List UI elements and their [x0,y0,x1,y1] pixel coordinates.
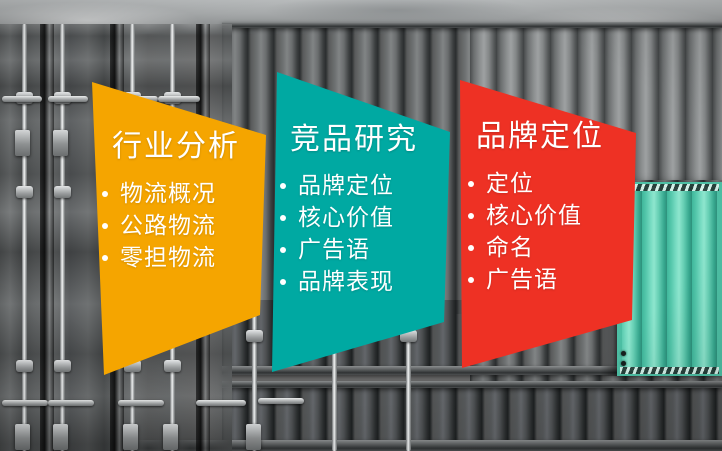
bullet-icon [280,215,286,221]
list-item-label: 公路物流 [120,213,216,239]
rod-handle-2 [48,96,88,102]
rod-cam-5 [16,186,33,198]
rod-handle-9 [258,398,304,404]
poster-canvas: 行业分析 物流概况 公路物流 零担物流 竞品研究 [0,0,722,451]
rod-cam-9 [16,360,33,372]
list-item-label: 广告语 [298,237,370,263]
rod-foot-7 [123,424,138,450]
list-item[interactable]: 命名 [466,232,582,264]
bullet-icon [280,247,286,253]
rod-foot-1 [15,130,30,156]
list-item[interactable]: 核心价值 [278,202,394,234]
rod-foot-2 [53,130,68,156]
rod-foot-8 [163,424,178,450]
list-item[interactable]: 广告语 [278,234,394,266]
rod-cam-6 [54,186,71,198]
bullet-icon [102,255,108,261]
panel-brand-list: 定位 核心价值 命名 广告语 [466,168,582,296]
list-item-label: 核心价值 [486,203,582,229]
rod-cam-10 [54,360,71,372]
rod-handle-6 [48,400,94,406]
list-item-label: 物流概况 [120,181,216,207]
bullet-icon [102,223,108,229]
panel-brand[interactable]: 品牌定位 定位 核心价值 命名 广告语 [452,52,652,392]
bullet-icon [468,213,474,219]
list-item-label: 核心价值 [298,205,394,231]
list-item-label: 品牌定位 [298,173,394,199]
list-item[interactable]: 物流概况 [100,178,216,210]
panel-industry[interactable]: 行业分析 物流概况 公路物流 零担物流 [86,70,276,390]
bullet-icon [102,191,108,197]
rod-handle-1 [2,96,42,102]
rod-handle-7 [118,400,164,406]
panel-competitor-list: 品牌定位 核心价值 广告语 品牌表现 [278,170,394,298]
panel-brand-title: 品牌定位 [476,122,604,152]
bullet-icon [468,245,474,251]
panel-brand-content: 品牌定位 定位 核心价值 命名 广告语 [452,52,652,392]
list-item[interactable]: 广告语 [466,264,582,296]
list-item[interactable]: 品牌定位 [278,170,394,202]
panel-competitor-title: 竞品研究 [290,125,418,155]
rod-handle-8 [196,400,246,406]
list-item-label: 定位 [486,171,534,197]
panel-industry-list: 物流概况 公路物流 零担物流 [100,178,216,274]
rod-foot-5 [15,424,30,450]
locking-rod-1 [22,24,27,451]
rod-foot-6 [53,424,68,450]
list-item[interactable]: 核心价值 [466,200,582,232]
rod-foot-9 [246,424,261,450]
list-item[interactable]: 零担物流 [100,242,216,274]
list-item-label: 广告语 [486,267,558,293]
bullet-icon [280,183,286,189]
container-rail-top [222,22,722,28]
list-item[interactable]: 定位 [466,168,582,200]
rod-handle-5 [2,400,48,406]
bullet-icon [468,181,474,187]
list-item[interactable]: 品牌表现 [278,266,394,298]
list-item[interactable]: 公路物流 [100,210,216,242]
list-item-label: 零担物流 [120,245,216,271]
locking-rod-2 [60,24,65,451]
door-seam-a [40,24,54,451]
bullet-icon [280,279,286,285]
bullet-icon [468,277,474,283]
list-item-label: 命名 [486,235,534,261]
panel-industry-content: 行业分析 物流概况 公路物流 零担物流 [86,70,276,390]
panel-industry-title: 行业分析 [112,132,240,162]
panel-competitor-content: 竞品研究 品牌定位 核心价值 广告语 品牌表现 [268,60,458,390]
panel-competitor[interactable]: 竞品研究 品牌定位 核心价值 广告语 品牌表现 [268,60,458,390]
list-item-label: 品牌表现 [298,269,394,295]
